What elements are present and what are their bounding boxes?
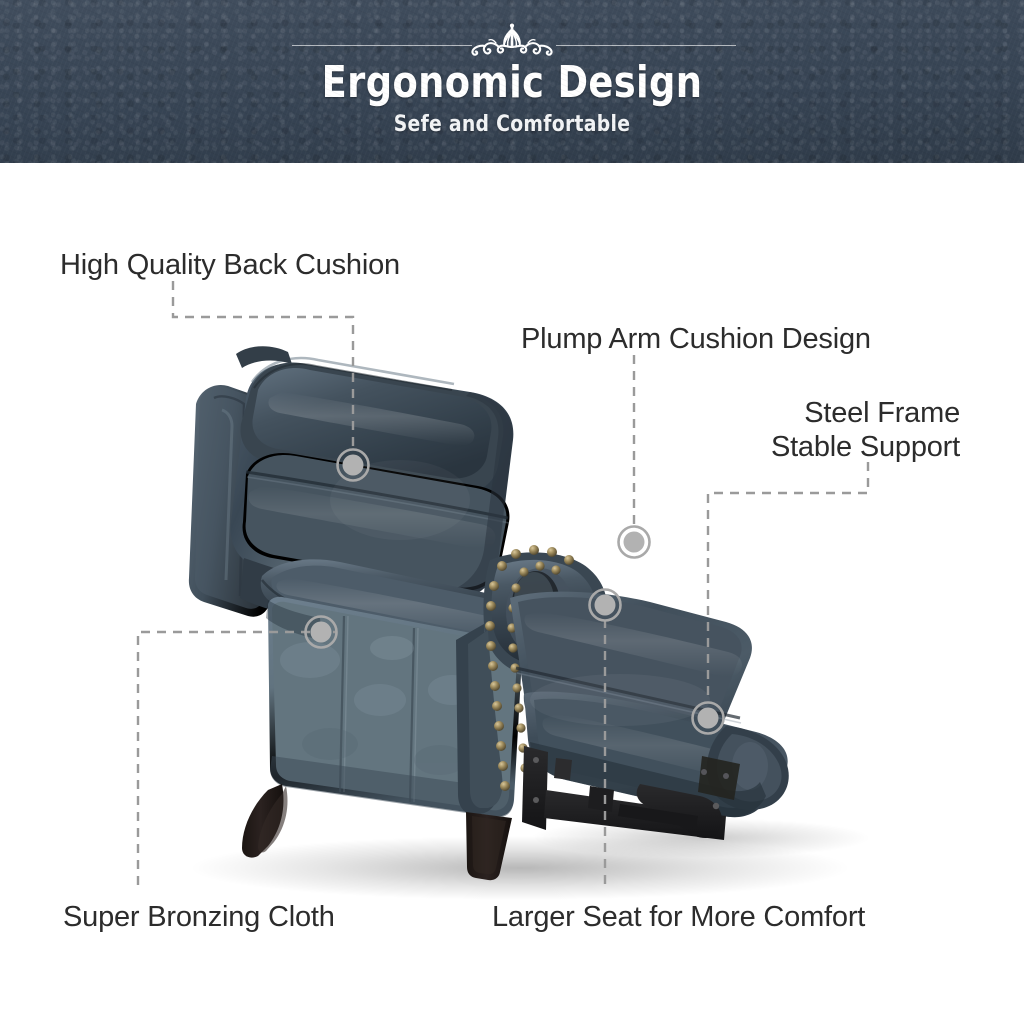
callout-label-larger-seat: Larger Seat for More Comfort	[492, 900, 865, 934]
callout-label-steel-frame-line1: Steel Frame	[700, 396, 960, 430]
callout-label-steel-frame: Steel Frame Stable Support	[700, 396, 960, 464]
infographic-canvas: Ergonomic Design Sefe and Comfortable	[0, 0, 1024, 1024]
callout-label-bronzing-cloth: Super Bronzing Cloth	[63, 900, 335, 934]
callout-label-arm-cushion: Plump Arm Cushion Design	[521, 322, 871, 356]
callout-label-steel-frame-line2: Stable Support	[700, 430, 960, 464]
product-image-recliner	[0, 0, 1024, 1024]
callout-label-back-cushion: High Quality Back Cushion	[60, 248, 400, 282]
